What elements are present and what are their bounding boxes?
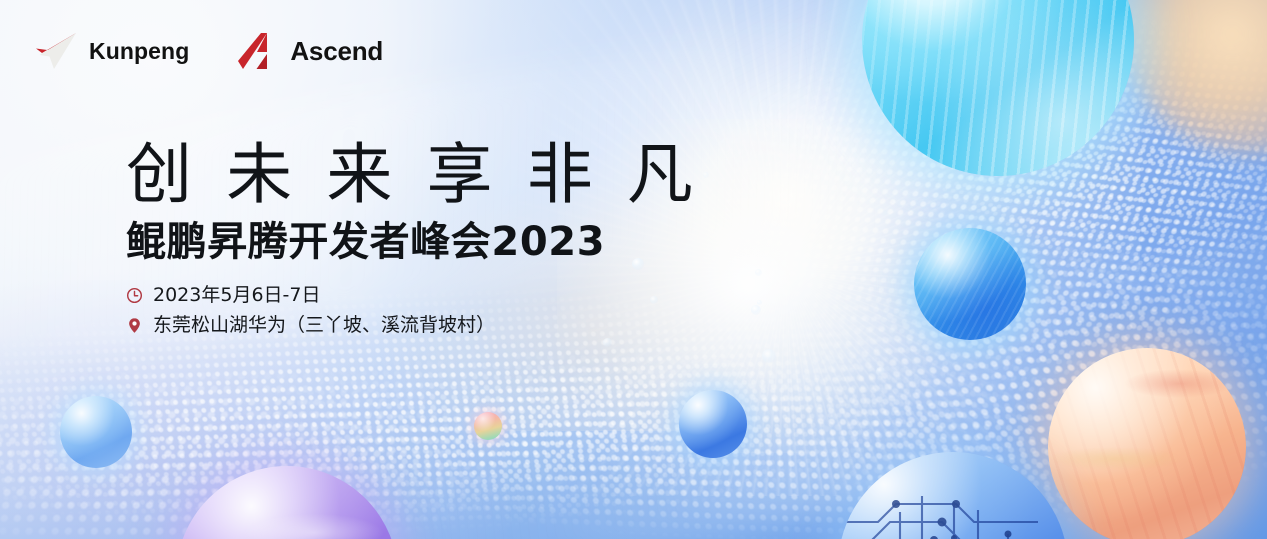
clock-icon — [126, 287, 143, 304]
event-meta: 2023年5月6日-7日 东莞松山湖华为（三丫坡、溪流背坡村） — [126, 285, 700, 337]
kunpeng-logo-text: Kunpeng — [89, 38, 189, 65]
event-date-row: 2023年5月6日-7日 — [126, 285, 700, 307]
ascend-a-mark — [237, 30, 279, 72]
kunpeng-arrow-mark — [32, 31, 78, 71]
bokeh-sparkle — [762, 349, 776, 363]
location-icon — [126, 317, 143, 334]
kunpeng-logo[interactable]: Kunpeng — [32, 31, 189, 71]
planet-circuit — [838, 452, 1068, 539]
bokeh-sparkle — [757, 300, 762, 305]
planet-blue-right — [914, 228, 1026, 340]
bokeh-sparkle — [751, 305, 761, 315]
ascend-logo-text: Ascend — [290, 36, 383, 67]
bokeh-sparkle — [703, 172, 709, 178]
bokeh-sparkle — [755, 269, 762, 276]
bokeh-sparkle — [603, 338, 612, 347]
logo-bar: Kunpeng Ascend — [32, 30, 383, 72]
ascend-logo[interactable]: Ascend — [237, 30, 383, 72]
planet-peach — [1048, 348, 1246, 539]
planet-tiny-multicolor — [474, 412, 502, 440]
event-banner: Kunpeng Ascend 创 未 来 享 非 凡 鲲鹏昇腾开发者峰会2023… — [0, 0, 1267, 539]
event-location-row: 东莞松山湖华为（三丫坡、溪流背坡村） — [126, 315, 700, 337]
headline-block: 创 未 来 享 非 凡 鲲鹏昇腾开发者峰会2023 2023年5月6日-7日 东… — [126, 142, 700, 337]
page-subtitle: 鲲鹏昇腾开发者峰会2023 — [126, 222, 700, 262]
bokeh-sparkle — [876, 367, 885, 376]
event-date: 2023年5月6日-7日 — [153, 285, 320, 307]
circuit-board-icon — [838, 452, 1068, 539]
planet-mid-blue — [679, 390, 747, 458]
event-location: 东莞松山湖华为（三丫坡、溪流背坡村） — [153, 315, 495, 337]
page-title: 创 未 来 享 非 凡 — [126, 142, 700, 208]
planet-small-blue — [60, 396, 132, 468]
